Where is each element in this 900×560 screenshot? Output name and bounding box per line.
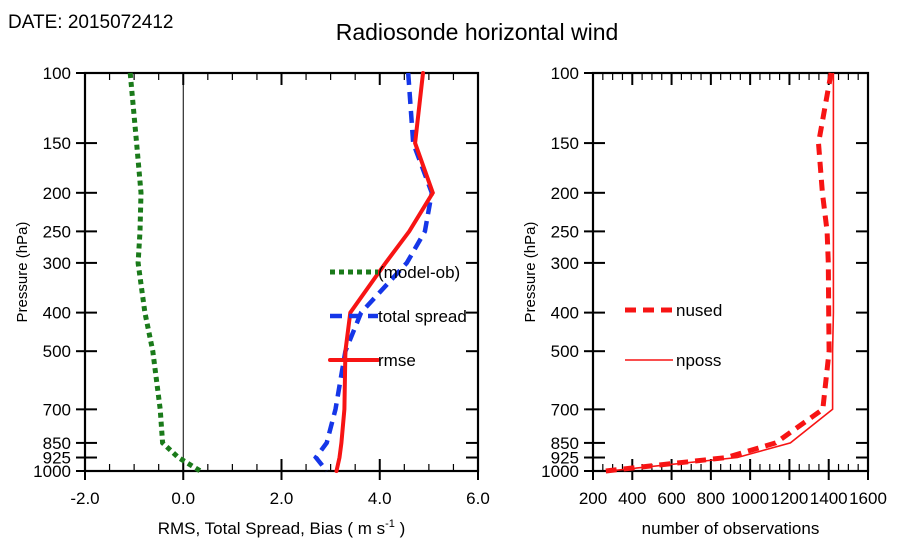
y-tick-label: 250 [43,222,71,241]
series-curve-nused [606,73,831,471]
x-tick-label: 6.0 [466,489,490,508]
x-tick-label: 4.0 [368,489,392,508]
legend-label: total spread [378,307,467,326]
legend-label: (model-ob) [378,263,460,282]
x-axis-title: number of observations [642,519,820,538]
series-curve-modelob [130,73,200,471]
x-axis-title: RMS, Total Spread, Bias ( m s-1 ) [158,518,406,538]
x-tick-label: 1200 [771,489,809,508]
date-label: DATE: 2015072412 [8,12,174,33]
right-panel-legend: nusednposs [625,301,722,370]
x-tick-label: 1600 [849,489,887,508]
legend-label: nposs [676,351,721,370]
x-tick-label: 1400 [810,489,848,508]
x-tick-label: 600 [657,489,685,508]
left-panel-axes: -2.00.02.04.06.0100150200250300400500700… [14,64,490,538]
y-axis-title: Pressure (hPa) [14,222,31,323]
y-tick-label: 700 [43,400,71,419]
x-tick-label: 2.0 [270,489,294,508]
x-tick-label: -2.0 [70,489,99,508]
x-tick-label: 0.0 [171,489,195,508]
x-tick-label: 800 [697,489,725,508]
legend-label: rmse [378,351,416,370]
series-curve-nposs [609,73,834,471]
y-tick-label: 200 [43,184,71,203]
x-tick-label: 200 [579,489,607,508]
y-tick-label: 400 [43,304,71,323]
left-panel-legend: (model-ob)total spreadrmse [330,263,467,370]
y-axis-title: Pressure (hPa) [522,222,539,323]
y-tick-label: 500 [43,342,71,361]
y-tick-label: 1000 [541,462,579,481]
y-tick-label: 300 [43,254,71,273]
y-tick-label: 250 [551,222,579,241]
y-tick-label: 150 [551,134,579,153]
y-tick-label: 400 [551,304,579,323]
figure-root: DATE: 2015072412 Radiosonde horizontal w… [0,0,900,560]
y-tick-label: 500 [551,342,579,361]
radiosonde-figure: DATE: 2015072412 Radiosonde horizontal w… [0,0,900,560]
y-tick-label: 100 [551,64,579,83]
x-tick-label: 1000 [731,489,769,508]
y-tick-label: 300 [551,254,579,273]
x-tick-label: 400 [618,489,646,508]
y-tick-label: 100 [43,64,71,83]
y-tick-label: 1000 [33,462,71,481]
y-tick-label: 700 [551,400,579,419]
legend-label: nused [676,301,722,320]
chart-title: Radiosonde horizontal wind [336,19,619,45]
right-panel-curves [606,73,834,471]
y-tick-label: 200 [551,184,579,203]
y-tick-label: 150 [43,134,71,153]
